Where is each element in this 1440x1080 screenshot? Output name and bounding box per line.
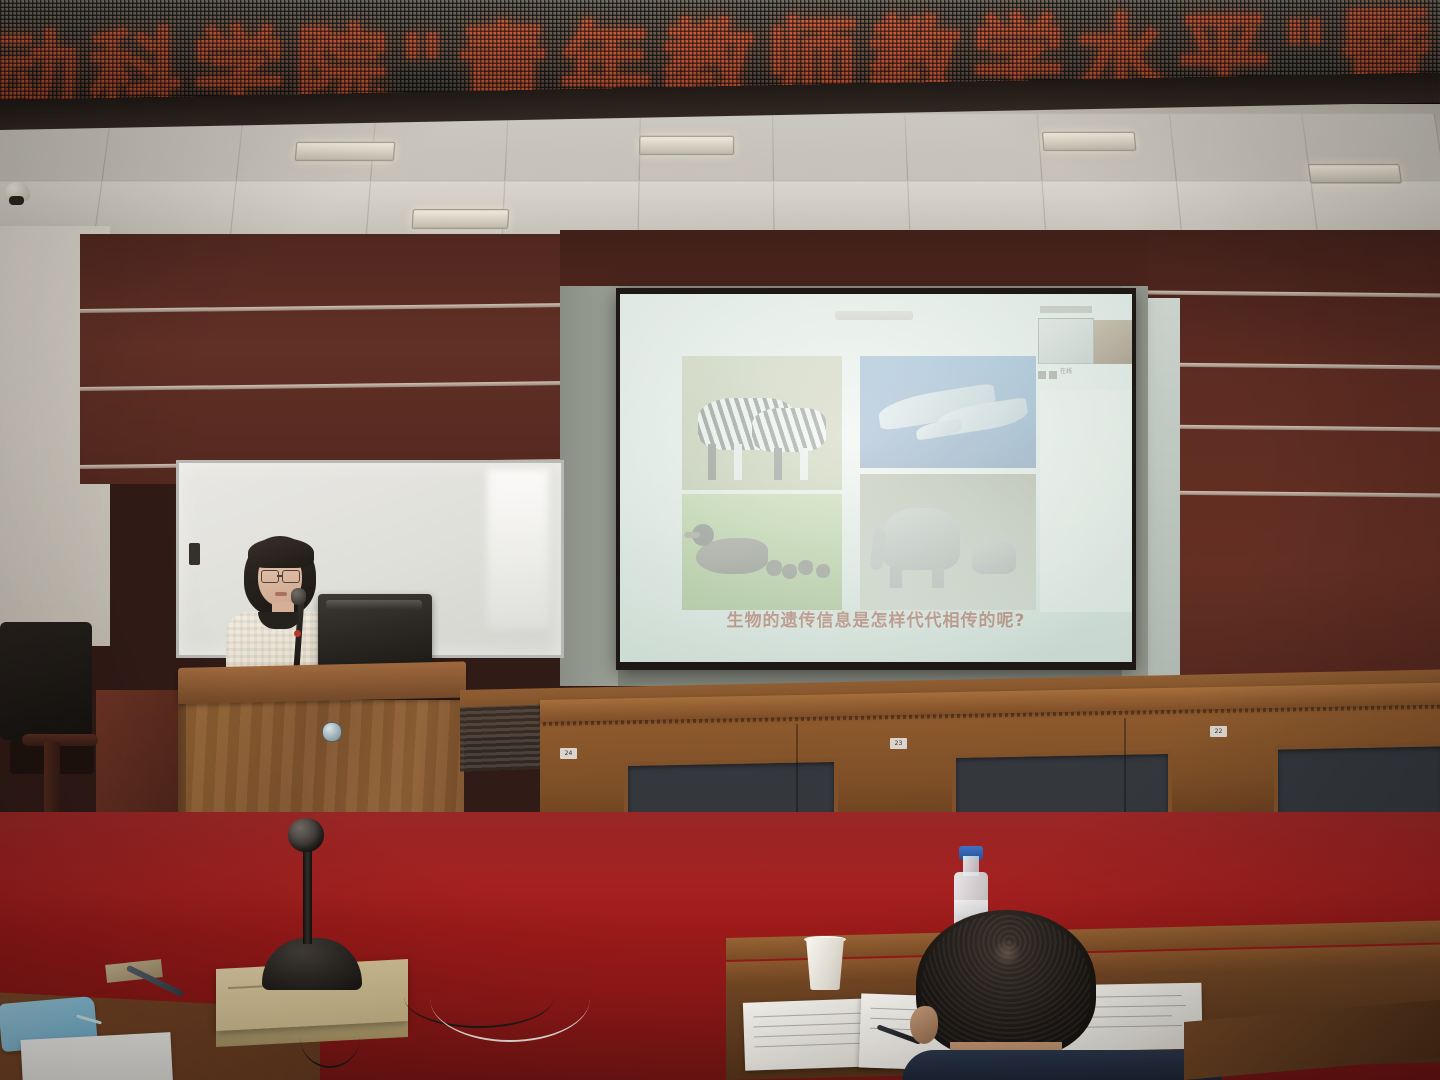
duck-photo xyxy=(682,494,842,610)
ceiling-tile xyxy=(1169,114,1311,181)
video-conference-overlay[interactable]: 在线 xyxy=(1034,306,1132,388)
vc-title-bar xyxy=(1040,306,1092,313)
wall-accent-strip xyxy=(1148,424,1440,431)
monitor-highlight xyxy=(326,600,422,610)
vc-participant-label: 在线 xyxy=(1060,366,1072,375)
duck-photo-wash xyxy=(682,494,842,610)
vc-remote-feed[interactable] xyxy=(1094,320,1132,364)
audience-ear xyxy=(910,1006,938,1044)
security-camera-icon xyxy=(4,182,30,212)
eyeglasses-bridge xyxy=(277,575,282,577)
ceiling-light xyxy=(412,209,510,229)
audience-hair-crown xyxy=(992,940,1022,966)
elephant-photo xyxy=(860,474,1036,610)
cable-black-2 xyxy=(300,1006,360,1068)
wall-accent-strip xyxy=(80,381,570,391)
ceiling-tile xyxy=(772,114,908,181)
wall-column-left xyxy=(560,286,618,686)
whiteboard-glare xyxy=(487,469,549,629)
presenter-mouth xyxy=(275,592,287,596)
vc-person-icon[interactable] xyxy=(1049,371,1057,379)
wall-vent-grille xyxy=(460,704,546,771)
carpet-sheen xyxy=(0,812,1440,932)
wall-accent-strip xyxy=(1148,290,1440,297)
audience-hair-texture xyxy=(922,914,1090,1054)
vc-controls-bar[interactable]: 在线 xyxy=(1038,366,1110,376)
ceiling-tile xyxy=(904,114,1042,181)
eyeglasses-right-lens xyxy=(282,570,300,583)
conference-camera-head xyxy=(288,818,324,852)
podium-emblem xyxy=(322,722,342,742)
vc-side-panel xyxy=(1040,390,1132,612)
chair xyxy=(0,622,96,822)
ceiling-light xyxy=(639,136,734,155)
zebra-photo xyxy=(682,356,842,490)
wall-accent-strip xyxy=(1148,490,1440,497)
whiteboard-marker-clip xyxy=(189,543,200,565)
podium-microphone-indicator xyxy=(294,630,301,637)
camera-lens xyxy=(9,196,24,205)
audience-shirt xyxy=(902,1050,1222,1080)
slide-toolbar xyxy=(835,311,913,320)
chair-armrest xyxy=(22,734,98,746)
chair-backrest xyxy=(0,622,92,740)
projection-screen: 生物的遗传信息是怎样代代相传的呢? 在线 xyxy=(620,294,1132,662)
wall-accent-strip xyxy=(1148,362,1440,369)
vc-video-icon[interactable] xyxy=(1038,371,1046,379)
podium-top-surface xyxy=(178,661,466,704)
vc-self-thumbnail[interactable] xyxy=(1038,318,1094,364)
wall-wood-left xyxy=(80,234,570,484)
zebra-photo-wash xyxy=(682,356,842,490)
ceiling-light xyxy=(1042,132,1136,151)
ceiling-tile xyxy=(504,114,641,181)
paper-line xyxy=(754,1032,872,1037)
wall-wood-right xyxy=(1148,230,1440,710)
podium-microphone-head xyxy=(291,588,306,605)
paper-cup xyxy=(806,938,844,990)
podium-monitor xyxy=(318,594,432,670)
lecture-hall-photo: 动科学院"青年教师教学水平"暨 xyxy=(0,0,1440,1080)
elephant-photo-wash xyxy=(860,474,1036,610)
ceiling-light xyxy=(1308,164,1402,183)
cable-white xyxy=(430,956,590,1042)
wall-accent-strip xyxy=(80,303,570,313)
dolphin-photo-wash xyxy=(860,356,1036,468)
ceiling-light xyxy=(295,142,396,161)
door-glass-panel xyxy=(1148,298,1180,710)
desk-number-24: 24 xyxy=(560,748,577,759)
conference-microphone-stem xyxy=(303,840,312,944)
desk-number-23: 23 xyxy=(890,738,907,749)
dolphin-photo xyxy=(860,356,1036,468)
desk-number-22: 22 xyxy=(1210,726,1227,737)
side-cabinet xyxy=(96,690,178,814)
papers-left xyxy=(21,1032,174,1080)
presenter-fringe xyxy=(248,538,314,568)
